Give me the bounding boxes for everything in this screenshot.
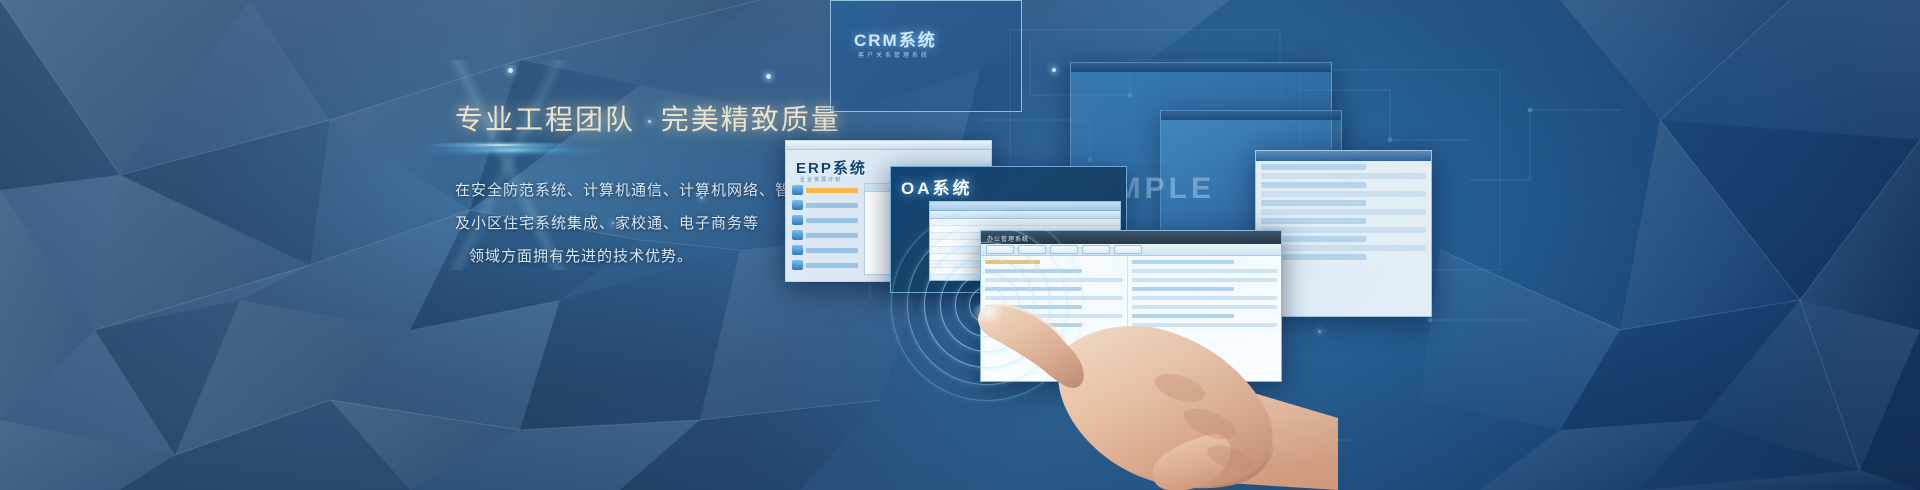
erp-sidebar-item: [792, 245, 858, 255]
pointing-hand-illustration: [948, 228, 1338, 490]
folder-icon: [792, 185, 803, 195]
particle-dot: [766, 74, 771, 79]
erp-system-title: ERP系统: [796, 157, 867, 178]
window-titlebar: [1161, 111, 1341, 120]
window-row: [1261, 182, 1366, 188]
erp-sidebar: [792, 185, 858, 275]
folder-icon: [792, 260, 803, 270]
window-row: [1261, 164, 1366, 170]
window-row: [1261, 209, 1426, 215]
window-titlebar: [1256, 151, 1431, 161]
software-screens-illustration: SAMPLE CRM系统 客户关系管理系统 ERP系统 企业资源计划: [830, 0, 1920, 490]
window-titlebar: [1071, 63, 1331, 72]
window-row: [1261, 218, 1366, 224]
headline-part-1: 专业工程团队: [455, 104, 635, 135]
headline-part-2: 完美精致质量: [661, 104, 841, 135]
erp-sidebar-item: [792, 230, 858, 240]
window-row: [1261, 200, 1366, 206]
page-title: 专业工程团队 完美精致质量: [455, 98, 875, 138]
folder-icon: [792, 200, 803, 210]
window-row: [1261, 191, 1426, 197]
crm-system-title: CRM系统: [854, 26, 937, 51]
folder-icon: [792, 230, 803, 240]
particle-dot: [508, 68, 513, 73]
erp-sidebar-item: [792, 185, 858, 195]
hero-banner: 专业工程团队 完美精致质量 在安全防范系统、计算机通信、计算机网络、智能大厦 及…: [0, 0, 1920, 490]
crm-system-subtitle: 客户关系管理系统: [858, 50, 930, 59]
erp-sidebar-item: [792, 215, 858, 225]
erp-sidebar-item: [792, 200, 858, 210]
window-row: [1261, 173, 1426, 179]
erp-system-subtitle: 企业资源计划: [800, 176, 842, 183]
folder-icon: [792, 245, 803, 255]
oa-system-title: OA系统: [901, 174, 973, 199]
window-menubar: [786, 141, 991, 150]
erp-sidebar-item: [792, 260, 858, 270]
folder-icon: [792, 215, 803, 225]
